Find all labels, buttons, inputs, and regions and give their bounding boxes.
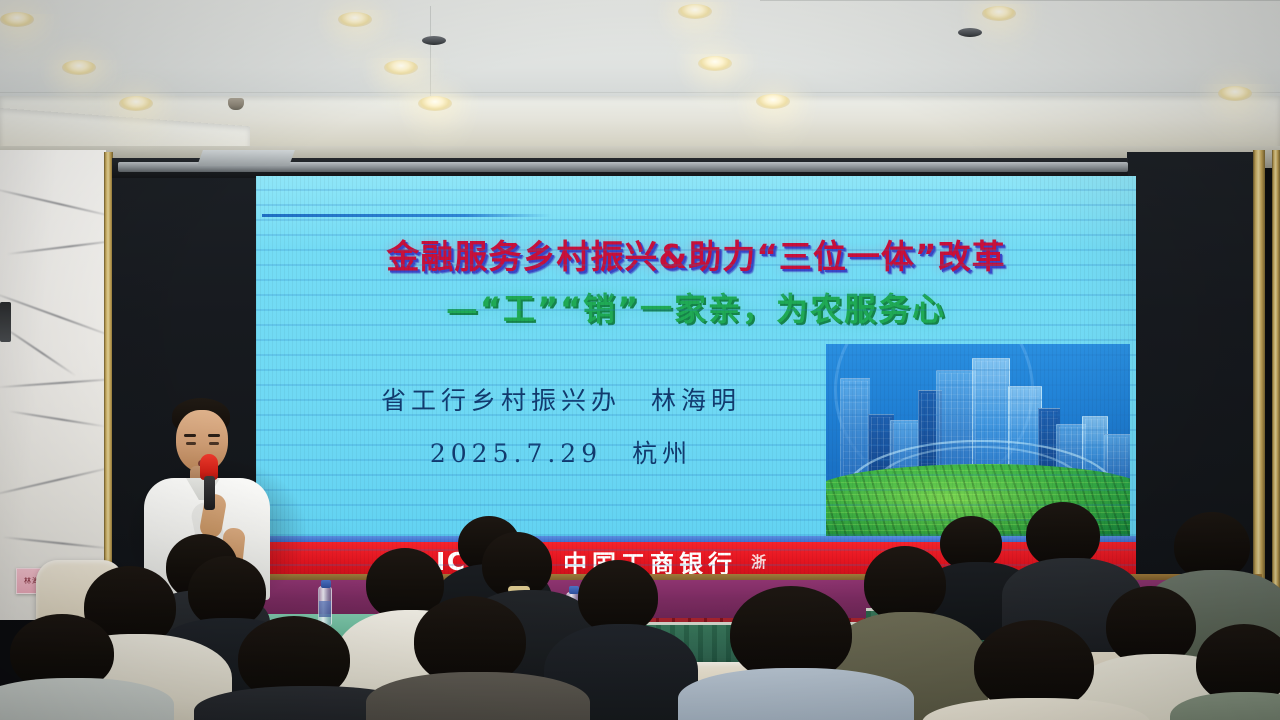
ceiling-downlight xyxy=(982,6,1016,21)
audience-member xyxy=(1186,624,1280,720)
ceiling-downlight xyxy=(119,96,153,111)
microphone-handle xyxy=(204,476,215,510)
slide-subtitle: —“工”“销”一家亲，为农服务心 xyxy=(256,284,1136,330)
slide-decoration-line xyxy=(262,214,552,217)
ceiling-downlight xyxy=(384,60,418,75)
ceiling-downlight xyxy=(338,12,372,27)
smoke-detector-icon xyxy=(422,36,446,45)
ceiling-downlight xyxy=(698,56,732,71)
audience-member xyxy=(940,620,1130,720)
ceiling-downlight xyxy=(1218,86,1252,101)
ceiling-downlight xyxy=(0,12,34,27)
wall-gold-trim-far-right xyxy=(1272,150,1280,624)
slide-title: 金融服务乡村振兴&助力“三位一体”改革 xyxy=(256,230,1136,278)
marble-wall-panel xyxy=(0,150,106,620)
ceiling-downlight xyxy=(678,4,712,19)
ceiling-downlight xyxy=(418,96,452,111)
audience-member xyxy=(392,596,562,720)
sprinkler-head-icon xyxy=(228,98,244,110)
audience-member xyxy=(700,586,890,720)
icbc-branch-suffix: 浙 xyxy=(751,551,767,572)
slide-date-line: 2025.7.29 杭州 xyxy=(326,434,796,470)
slide-presenter-line: 省工行乡村振兴办 林海明 xyxy=(326,381,796,417)
ceiling xyxy=(0,0,1280,160)
conference-photo-scene: 金融服务乡村振兴&助力“三位一体”改革 —“工”“销”一家亲，为农服务心 省工行… xyxy=(0,0,1280,720)
ceiling-downlight xyxy=(62,60,96,75)
ceiling-downlight xyxy=(756,94,790,109)
smoke-detector-icon xyxy=(958,28,982,37)
air-vent xyxy=(197,150,295,166)
audience-member xyxy=(0,614,150,720)
